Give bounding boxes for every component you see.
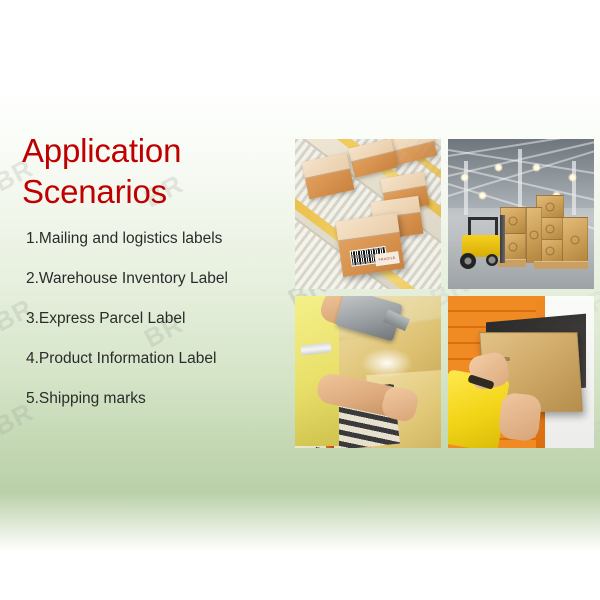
parcel-box-foreground: FRAGILE	[335, 213, 404, 277]
list-item: 4.Product Information Label	[26, 350, 290, 368]
ceiling-lamp	[568, 173, 577, 182]
photo-grid: FRAGILE	[295, 139, 594, 456]
forklift-mast	[500, 215, 505, 263]
roof-column	[518, 149, 522, 213]
pallet	[534, 261, 588, 269]
title-line-1: Application	[22, 132, 181, 169]
roof-column	[464, 161, 468, 215]
list-item: 1.Mailing and logistics labels	[26, 230, 290, 248]
scenario-list: 1.Mailing and logistics labels 2.Warehou…	[0, 230, 290, 408]
list-item: 2.Warehouse Inventory Label	[26, 270, 290, 288]
page-title: Application Scenarios	[0, 130, 290, 212]
photo-parcel-locker	[448, 296, 594, 448]
slide-canvas: BR BR BR BR BR BR BR BR BR BR Applicatio…	[0, 0, 600, 600]
forklift-wheel	[460, 253, 476, 269]
ceiling-lamp	[494, 163, 503, 172]
ceiling-lamp	[478, 191, 487, 200]
ceiling-lamp	[460, 173, 469, 182]
box-lid	[389, 139, 435, 152]
stacked-box	[562, 217, 588, 263]
title-line-2: Scenarios	[22, 173, 167, 210]
forklift-wheel	[486, 254, 498, 266]
photo-warehouse-forklift	[448, 139, 594, 289]
list-item: 3.Express Parcel Label	[26, 310, 290, 328]
photo-conveyor-parcels: FRAGILE	[295, 139, 441, 289]
light-glare	[361, 348, 413, 378]
fragile-label: FRAGILE	[374, 251, 399, 266]
text-column: Application Scenarios 1.Mailing and logi…	[0, 130, 290, 430]
photo-worker-taping-box	[295, 296, 441, 448]
ceiling-lamp	[532, 163, 541, 172]
list-item: 5.Shipping marks	[26, 390, 290, 408]
person-hand	[498, 392, 543, 442]
forklift	[458, 219, 506, 263]
stacked-box	[526, 207, 542, 263]
roof-column	[572, 161, 576, 215]
reflective-strip	[301, 342, 332, 355]
